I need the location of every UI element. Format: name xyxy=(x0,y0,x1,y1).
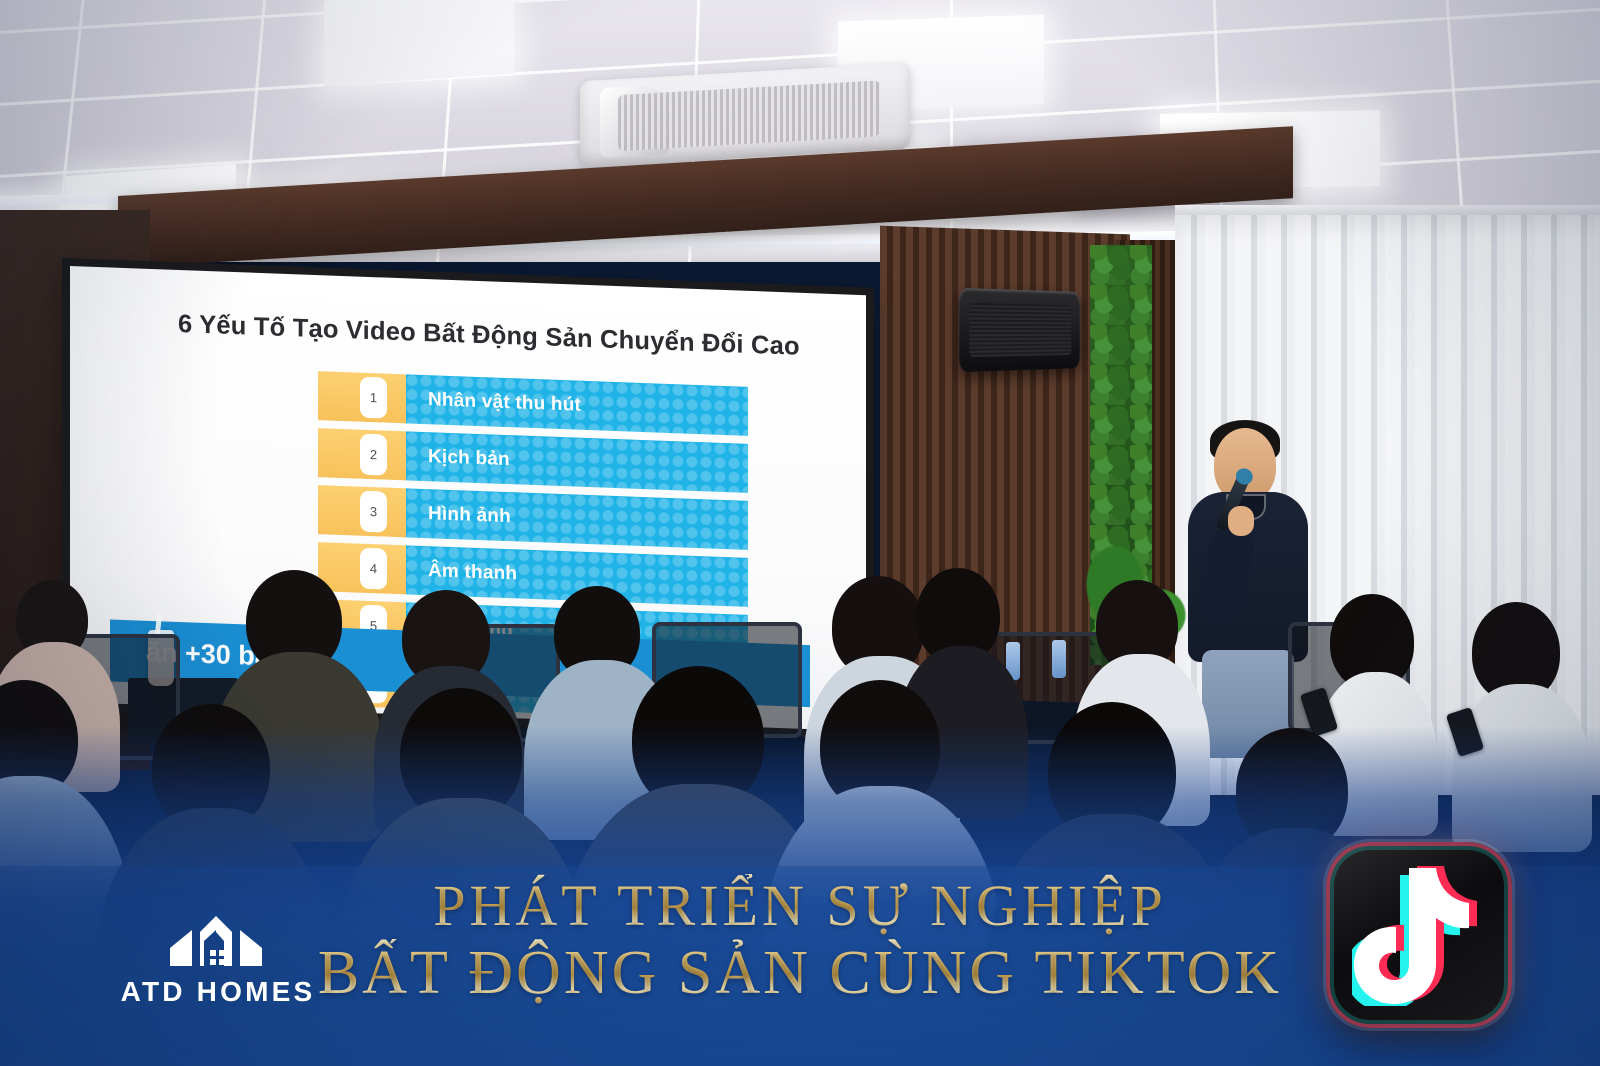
house-building-icon xyxy=(108,910,328,970)
wall-speaker-icon xyxy=(959,288,1081,372)
item-number: 2 xyxy=(360,434,387,476)
event-photo-stage: 6 Yếu Tố Tạo Video Bất Động Sản Chuyển Đ… xyxy=(0,0,1600,1066)
brand-name: ATD HOMES xyxy=(108,976,328,1008)
item-label: Hình ảnh xyxy=(406,488,748,550)
item-label: Nhân vật thu hút xyxy=(406,374,748,436)
slide-title: 6 Yếu Tố Tạo Video Bất Động Sản Chuyển Đ… xyxy=(178,310,838,363)
tiktok-badge xyxy=(1326,842,1512,1028)
slide-list-item: 2 Kịch bản xyxy=(318,428,748,493)
tiktok-note-icon xyxy=(1352,864,1486,1006)
item-number-box: 3 xyxy=(318,485,406,537)
ceiling-light-panel xyxy=(324,0,514,87)
slide-list-item: 1 Nhân vật thu hút xyxy=(318,371,748,436)
item-number: 1 xyxy=(360,377,387,419)
presenter-hand xyxy=(1228,506,1254,536)
item-number-box: 2 xyxy=(318,428,406,480)
water-bottle xyxy=(1052,640,1066,678)
item-label: Kịch bản xyxy=(406,431,748,493)
brand-logo: ATD HOMES xyxy=(108,910,328,1008)
item-number: 3 xyxy=(360,491,387,533)
slide-list-item: 3 Hình ảnh xyxy=(318,485,748,550)
item-number-box: 1 xyxy=(318,371,406,423)
